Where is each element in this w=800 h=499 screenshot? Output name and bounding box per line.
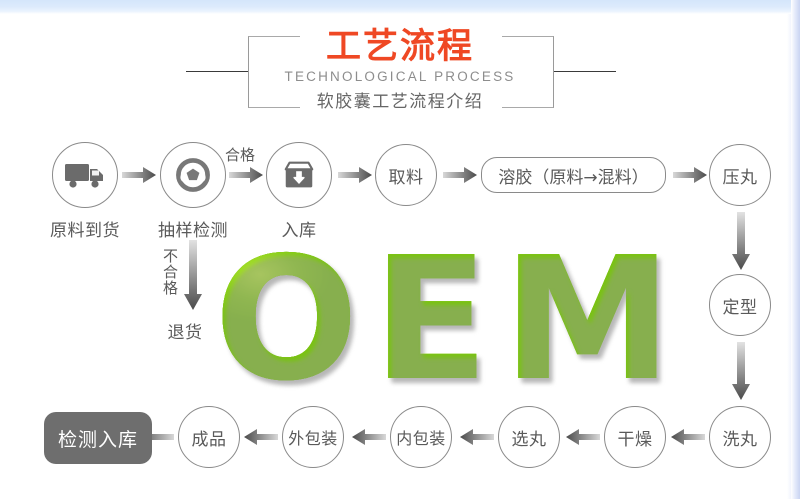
- flow-node-material-taking[interactable]: 取料: [375, 144, 437, 206]
- page-title-english: TECHNOLOGICAL PROCESS: [0, 69, 800, 85]
- arrow-sampling-to-warehousing: [229, 167, 263, 183]
- flow-label-sampling-inspection: 抽样检测: [142, 216, 244, 241]
- process-flow-infographic: 工艺流程 TECHNOLOGICAL PROCESS 软胶囊工艺流程介绍 OEM…: [0, 0, 800, 499]
- flow-node-inner-packaging[interactable]: 内包装: [390, 406, 452, 468]
- flow-node-shaping[interactable]: 定型: [709, 274, 771, 336]
- edge-label-qualified: 合格: [225, 144, 255, 165]
- flow-node-finished-product[interactable]: 成品: [178, 406, 240, 468]
- sampling-gear-icon: [172, 157, 214, 193]
- arrow-raw-to-sampling: [122, 167, 156, 183]
- flow-node-sampling-inspection[interactable]: [160, 142, 226, 208]
- arrow-inner-to-outer-packaging: [352, 429, 386, 445]
- arrow-pill-pressing-to-shaping: [732, 212, 748, 270]
- inbox-down-arrow-icon: [278, 157, 320, 193]
- flow-label-sol-gel: 溶胶（原料→混料）: [498, 163, 648, 188]
- flow-label-inspection-warehousing: 检测入库: [58, 425, 138, 452]
- flow-node-warehousing[interactable]: [266, 142, 332, 208]
- flow-label-material-taking: 取料: [389, 163, 424, 188]
- flow-label-shaping: 定型: [723, 293, 758, 318]
- oem-watermark: OEM: [200, 238, 700, 403]
- flow-label-finished-product: 成品: [192, 425, 227, 450]
- flow-node-pill-selecting[interactable]: 选丸: [498, 406, 560, 468]
- flow-label-pill-washing: 洗丸: [723, 425, 758, 450]
- flow-label-drying: 干燥: [618, 425, 653, 450]
- flow-node-sol-gel[interactable]: 溶胶（原料→混料）: [481, 157, 666, 193]
- truck-icon: [64, 157, 106, 193]
- arrow-material-taking-to-sol-gel: [443, 167, 477, 183]
- flow-node-pill-pressing[interactable]: 压丸: [709, 144, 771, 206]
- arrow-sol-gel-to-pill-pressing: [673, 167, 707, 183]
- flow-node-drying[interactable]: 干燥: [604, 406, 666, 468]
- flow-node-pill-washing[interactable]: 洗丸: [709, 406, 771, 468]
- arrow-sampling-to-return: [184, 240, 200, 310]
- flow-label-warehousing: 入库: [255, 216, 343, 241]
- page-subtitle: 软胶囊工艺流程介绍: [0, 91, 800, 113]
- arrow-warehousing-to-material-taking: [338, 167, 372, 183]
- arrow-outer-packaging-to-finished-product: [244, 429, 278, 445]
- flow-label-pill-pressing: 压丸: [723, 163, 758, 188]
- flow-label-raw-material-arrival: 原料到货: [34, 216, 136, 241]
- flow-node-raw-material-arrival[interactable]: [52, 142, 118, 208]
- arrow-pill-selecting-to-inner-packaging: [460, 429, 494, 445]
- flow-node-inspection-warehousing[interactable]: 检测入库: [44, 412, 152, 464]
- flow-node-outer-packaging[interactable]: 外包装: [282, 406, 344, 468]
- arrow-drying-to-pill-selecting: [566, 429, 600, 445]
- flow-label-pill-selecting: 选丸: [512, 425, 547, 450]
- flow-label-inner-packaging: 内包装: [396, 425, 446, 449]
- arrow-pill-washing-to-drying: [671, 429, 705, 445]
- flow-label-return-goods: 退货: [150, 318, 220, 343]
- header: 工艺流程 TECHNOLOGICAL PROCESS 软胶囊工艺流程介绍: [0, 14, 800, 119]
- edge-label-unqualified: 不合格: [160, 248, 181, 296]
- flow-label-outer-packaging: 外包装: [288, 425, 338, 449]
- top-gradient-band: [0, 0, 800, 14]
- arrow-shaping-to-pill-washing: [732, 342, 748, 400]
- page-title: 工艺流程: [0, 28, 800, 66]
